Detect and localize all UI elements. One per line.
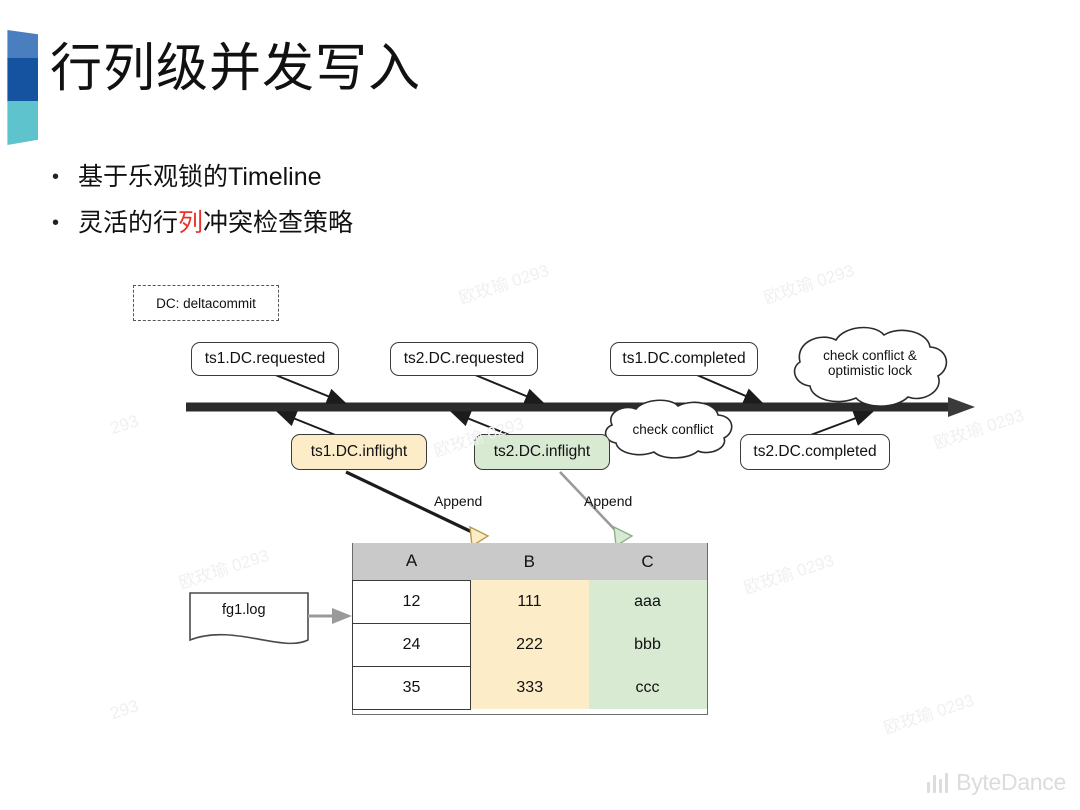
title-accent-bar xyxy=(4,30,38,145)
bullet-text: 灵活的行列冲突检查策略 xyxy=(78,208,353,238)
cell-b: 333 xyxy=(471,666,589,709)
edge-label-append-2: Append xyxy=(584,493,632,509)
accent-segment-top xyxy=(4,30,38,60)
page-title: 行列级并发写入 xyxy=(50,43,421,95)
cloud-check-optimistic-text: check conflict & optimistic lock xyxy=(796,348,944,378)
cell-a: 24 xyxy=(353,623,471,666)
bullet-marker-icon: • xyxy=(52,162,78,192)
timeline-axis xyxy=(186,397,975,417)
data-table: A B C 12 111 aaa 24 222 bbb 35 333 ccc xyxy=(352,543,707,710)
log-file-shape xyxy=(190,593,308,643)
bytedance-bars-icon xyxy=(927,773,949,793)
legend-deltacommit: DC: deltacommit xyxy=(133,285,279,321)
accent-segment-bottom xyxy=(4,101,38,145)
bullet-list: • 基于乐观锁的Timeline • 灵活的行列冲突检查策略 xyxy=(52,162,752,254)
table-header-row: A B C xyxy=(353,543,707,580)
accent-segment-middle xyxy=(4,58,38,102)
edge-ts2-requested xyxy=(468,372,543,403)
bullet-text-pre: 基于乐观锁的Timeline xyxy=(78,163,322,191)
table-body: 12 111 aaa 24 222 bbb 35 333 ccc xyxy=(353,580,707,709)
bytedance-logo: ByteDance xyxy=(927,769,1066,796)
slide-root: 行列级并发写入 • 基于乐观锁的Timeline • 灵活的行列冲突检查策略 xyxy=(0,0,1080,810)
bullet-text-post: 冲突检查策略 xyxy=(203,209,353,237)
column-header-b: B xyxy=(471,543,589,580)
cloud-check-conflict-text: check conflict xyxy=(608,422,738,437)
node-label: ts1.DC.completed xyxy=(622,350,745,368)
bullet-item: • 灵活的行列冲突检查策略 xyxy=(52,208,752,238)
cloud-line-1: check conflict xyxy=(608,422,738,437)
cell-a: 12 xyxy=(353,580,471,623)
bullet-text-highlight: 列 xyxy=(178,209,203,237)
column-header-c: C xyxy=(589,543,707,580)
edge-ts1-inflight xyxy=(278,412,338,436)
node-ts2-requested[interactable]: ts2.DC.requested xyxy=(390,342,538,376)
edge-ts2-completed xyxy=(808,412,872,436)
cloud-line-1: check conflict & xyxy=(796,348,944,363)
bullet-item: • 基于乐观锁的Timeline xyxy=(52,162,752,192)
node-label: ts1.DC.inflight xyxy=(311,443,407,461)
legend-label: DC: deltacommit xyxy=(156,296,256,311)
table-header: A B C xyxy=(353,543,707,580)
cell-b: 111 xyxy=(471,580,589,623)
cell-b: 222 xyxy=(471,623,589,666)
node-ts1-requested[interactable]: ts1.DC.requested xyxy=(191,342,339,376)
node-label: ts2.DC.inflight xyxy=(494,443,590,461)
node-label: ts1.DC.requested xyxy=(205,350,326,368)
table-row: 35 333 ccc xyxy=(353,666,707,709)
table-row: 24 222 bbb xyxy=(353,623,707,666)
cell-c: ccc xyxy=(589,666,707,709)
cell-c: aaa xyxy=(589,580,707,623)
table-row: 12 111 aaa xyxy=(353,580,707,623)
node-label: ts2.DC.completed xyxy=(753,443,876,461)
edge-ts1-requested xyxy=(268,372,345,403)
cell-c: bbb xyxy=(589,623,707,666)
log-file-label: fg1.log xyxy=(222,602,266,618)
cloud-line-2: optimistic lock xyxy=(796,363,944,378)
bytedance-wordmark: ByteDance xyxy=(956,769,1066,796)
bullet-text-pre: 灵活的行 xyxy=(78,209,178,237)
node-ts1-inflight[interactable]: ts1.DC.inflight xyxy=(291,434,427,470)
arrowhead-log-to-table xyxy=(332,608,352,624)
node-ts1-completed[interactable]: ts1.DC.completed xyxy=(610,342,758,376)
edge-label-append-1: Append xyxy=(434,493,482,509)
bullet-text: 基于乐观锁的Timeline xyxy=(78,162,322,192)
edge-ts1-completed xyxy=(690,372,762,403)
bullet-marker-icon: • xyxy=(52,208,78,238)
node-ts2-completed[interactable]: ts2.DC.completed xyxy=(740,434,890,470)
cell-a: 35 xyxy=(353,666,471,709)
column-header-a: A xyxy=(353,543,471,580)
node-label: ts2.DC.requested xyxy=(404,350,525,368)
